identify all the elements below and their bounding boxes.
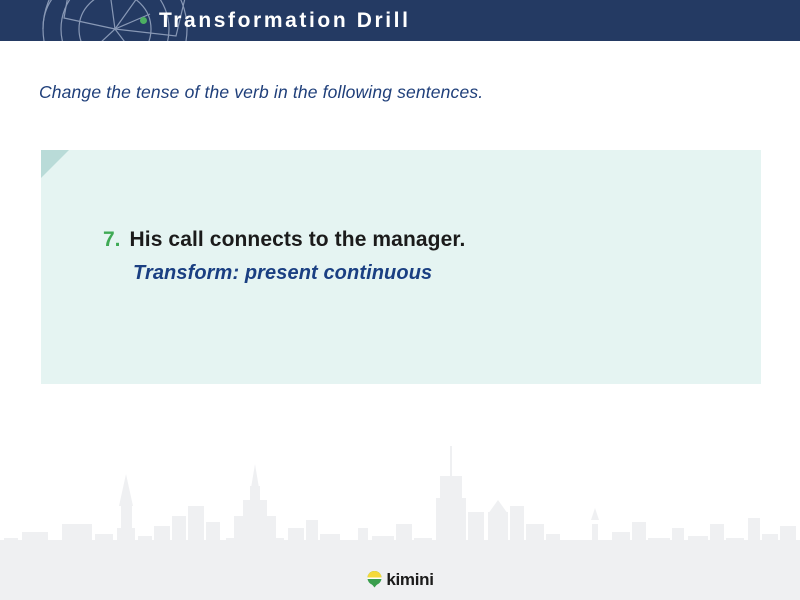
slide-root: Transformation Drill Change the tense of… [0, 0, 800, 600]
kimini-logo: kimini [366, 570, 433, 588]
question-number: 7. [103, 228, 121, 252]
slide-footer: kimini [0, 558, 800, 600]
question-line: 7. His call connects to the manager. [103, 228, 741, 252]
question-card: 7. His call connects to the manager. Tra… [41, 150, 761, 384]
city-skyline-icon [0, 428, 800, 558]
green-dot-icon [140, 17, 147, 24]
kimini-globe-icon [366, 570, 383, 588]
instruction-text: Change the tense of the verb in the foll… [39, 82, 483, 103]
slide-header: Transformation Drill [0, 0, 800, 41]
logo-text: kimini [386, 571, 433, 588]
question-body: 7. His call connects to the manager. Tra… [103, 228, 741, 285]
transform-instruction: Transform: present continuous [133, 262, 741, 285]
question-sentence: His call connects to the manager. [130, 228, 466, 252]
header-inner: Transformation Drill [0, 0, 800, 41]
corner-fold-icon [41, 150, 69, 178]
page-title: Transformation Drill [159, 10, 411, 31]
